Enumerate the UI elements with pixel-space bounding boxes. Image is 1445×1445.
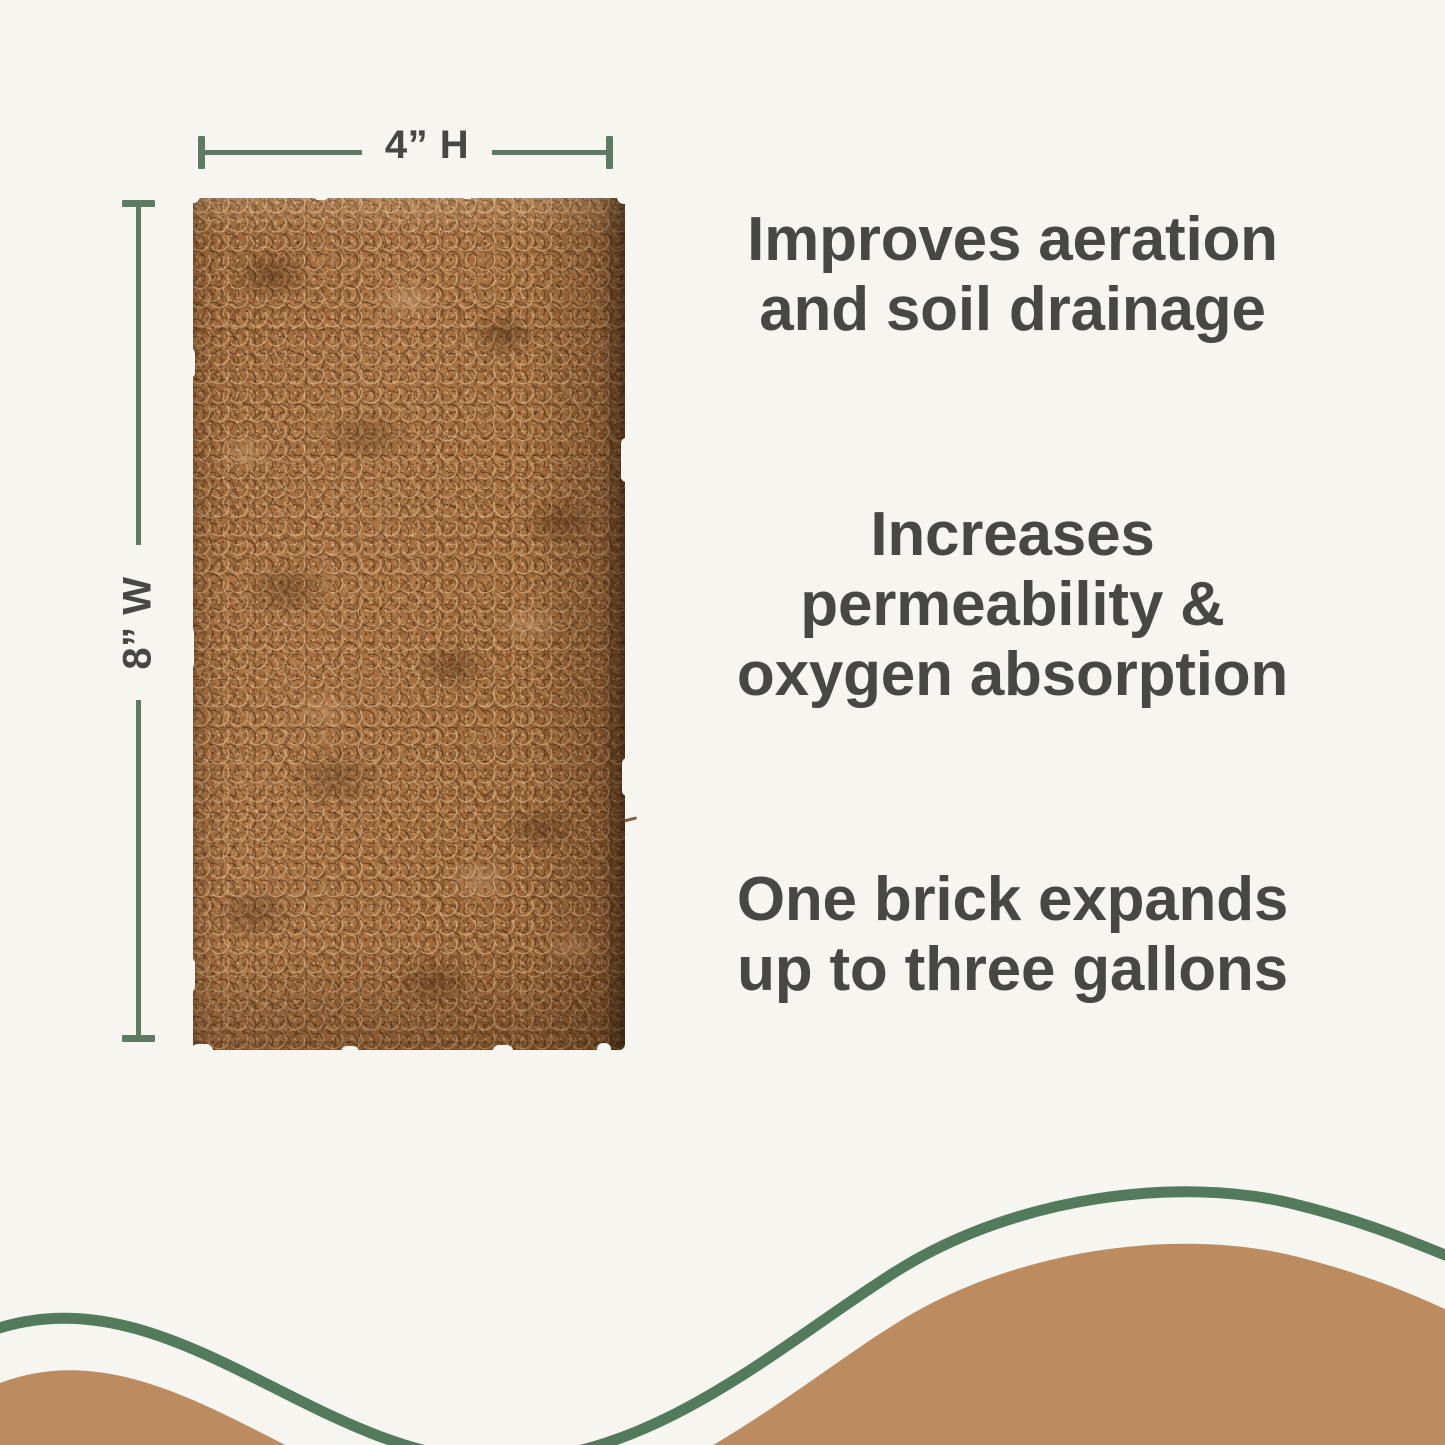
benefit-line: permeability & bbox=[660, 570, 1365, 640]
dimension-cap-top bbox=[122, 200, 155, 207]
benefit-permeability-oxygen: Increases permeability & oxygen absorpti… bbox=[660, 500, 1365, 710]
dimension-line-left bbox=[205, 150, 362, 155]
benefit-line: Increases bbox=[660, 500, 1365, 570]
coco-coir-brick-image bbox=[193, 198, 625, 1050]
dimension-cap-left bbox=[198, 136, 205, 169]
dimension-line-right bbox=[492, 150, 613, 155]
benefit-aeration-drainage: Improves aeration and soil drainage bbox=[660, 205, 1365, 345]
dimension-cap-right bbox=[606, 136, 613, 169]
benefit-expansion-volume: One brick expands up to three gallons bbox=[660, 865, 1365, 1005]
dimension-label-horizontal: 4” H bbox=[362, 125, 492, 165]
dimension-line-upper bbox=[136, 207, 141, 545]
dimension-cap-bottom bbox=[122, 1035, 155, 1042]
dimension-label-vertical: 8” W bbox=[78, 545, 198, 700]
wave-fill-shape bbox=[0, 1244, 1445, 1445]
brick-texture bbox=[193, 198, 625, 1050]
infographic-canvas: 4” H 8” W Improves aeration and soil dra… bbox=[0, 0, 1445, 1445]
dimension-line-lower bbox=[136, 700, 141, 1042]
bottom-wave-divider bbox=[0, 1145, 1445, 1445]
benefit-line: oxygen absorption bbox=[660, 640, 1365, 710]
dimension-label-vertical-text: 8” W bbox=[118, 576, 158, 669]
benefit-line: and soil drainage bbox=[660, 275, 1365, 345]
benefit-line: Improves aeration bbox=[660, 205, 1365, 275]
benefit-line: One brick expands bbox=[660, 865, 1365, 935]
benefit-line: up to three gallons bbox=[660, 935, 1365, 1005]
